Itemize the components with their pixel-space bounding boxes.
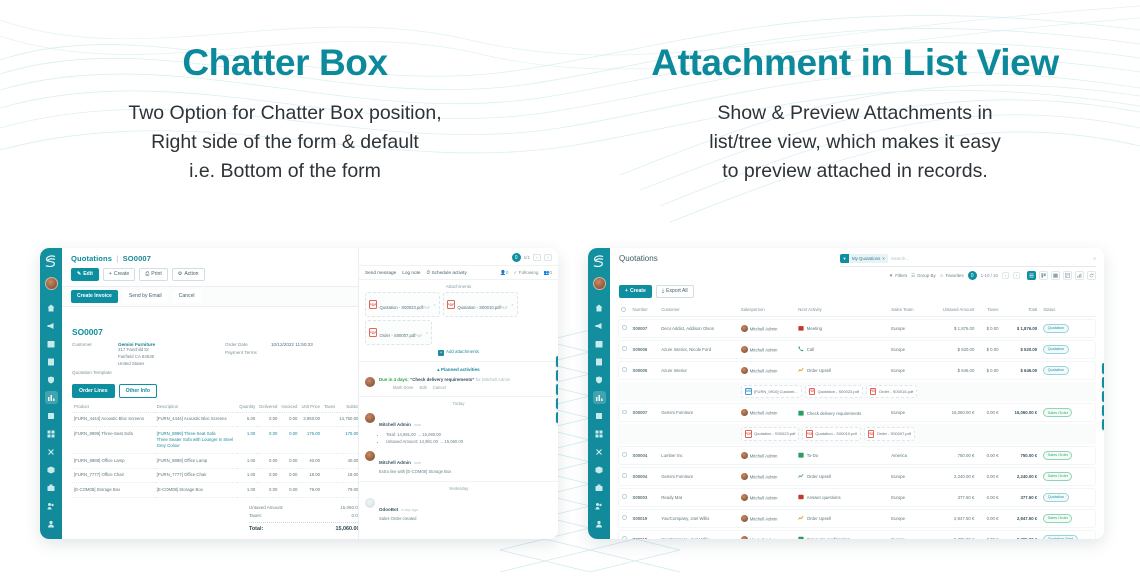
edit-activity-button[interactable]: Edit	[419, 385, 426, 390]
edit-button[interactable]: ✎Edit	[71, 268, 99, 281]
search-input[interactable]: Search...	[891, 256, 1090, 261]
list-view-mockup: Quotations ▼ My Quotations× Search... ⌕ …	[588, 248, 1104, 539]
list-header: Quotations ▼ My Quotations× Search... ⌕ …	[610, 248, 1104, 280]
message-body: Sales Order created	[379, 516, 418, 523]
total-untaxed-label: Untaxed Amount:	[249, 505, 284, 510]
attachment-name: Quotation - S00023.pdf	[380, 305, 423, 310]
attachment-chip[interactable]: PDFOrder - S00015.pdf	[866, 385, 917, 399]
address-line: 317 Fairchild Dr	[118, 347, 155, 354]
cell-description: [FURN_8999] Three-Seat Sofa Three Seater…	[155, 427, 238, 454]
floating-toolbar-right	[1102, 363, 1104, 430]
cell-total: 2,240.00 €	[1002, 467, 1041, 486]
pdf-icon: PDF	[870, 388, 877, 396]
form-fields-right: Order Date 10/12/2022 11:50:23 Payment T…	[225, 342, 364, 377]
attachment-row: PDFQuotation - S00023.pdf PDFQuotation -…	[618, 424, 1096, 444]
cell-taxes: 0.00 €	[977, 530, 1001, 539]
settings-icon[interactable]	[1102, 405, 1104, 416]
avatar	[365, 377, 375, 387]
table-row[interactable]: S00007 Gemini Furniture Mitchell Admin C…	[618, 403, 1096, 422]
pdf-icon: PDF	[369, 300, 377, 309]
status-badge: Quotation	[1043, 493, 1068, 502]
select-all-checkbox[interactable]	[621, 307, 626, 312]
col-sales-team[interactable]: Sales Team	[888, 304, 926, 317]
list-view-icon[interactable]	[1027, 271, 1036, 280]
pdf-icon: PDF	[806, 430, 813, 438]
create-button-label: Create	[114, 272, 129, 277]
search-icon[interactable]	[1102, 377, 1104, 388]
status-badge: Quotation	[1043, 366, 1068, 375]
followers-count[interactable]: 👤0	[500, 270, 508, 276]
cell-number[interactable]: S00007	[630, 319, 659, 338]
row-checkbox[interactable]	[622, 367, 627, 372]
row-checkbox[interactable]	[622, 494, 627, 499]
cell-number[interactable]: S00004	[630, 446, 659, 465]
table-row[interactable]: S00019 YourCompany, Joel Willis Mitchell…	[618, 509, 1096, 528]
status-badge: Sales Order	[1043, 472, 1072, 481]
cell-product: [FURN_7777] Office Chair	[72, 468, 155, 482]
people-icon[interactable]	[593, 499, 606, 512]
col-status[interactable]: Status	[1040, 304, 1096, 317]
mark-done-button[interactable]: Mark Done	[393, 385, 413, 390]
close-icon[interactable]: ×	[434, 302, 436, 307]
create-button-label: Create	[630, 289, 646, 294]
cell-quantity: 5.00	[237, 412, 257, 426]
briefcase-icon[interactable]	[593, 481, 606, 494]
col-salesperson[interactable]: Salesperson	[738, 304, 796, 317]
col-product[interactable]: Product	[72, 401, 155, 413]
schedule-activity-button[interactable]: ⏱ Schedule activity	[427, 270, 467, 275]
cell-number[interactable]: S00005	[630, 361, 659, 380]
address-line: United States	[118, 361, 155, 368]
chip-icon[interactable]	[45, 535, 58, 539]
cell-status: Quotation Sent	[1040, 530, 1096, 539]
cell-salesperson: Mitchell Admin	[738, 530, 796, 539]
table-row[interactable]: [FURN_7777] Office Chair[FURN_7777] Offi…	[72, 468, 364, 482]
search-icon[interactable]: ⌕	[1093, 256, 1096, 262]
table-row[interactable]: S00018 YourCompany, Joel Willis Mitchell…	[618, 530, 1096, 539]
cancel-button[interactable]: Cancel	[173, 290, 201, 303]
cell-quantity: 1.00	[237, 427, 257, 454]
row-checkbox[interactable]	[622, 346, 627, 351]
cell-total: 2,947.50 €	[1002, 509, 1041, 528]
table-row[interactable]: [FURN_4444] Acoustic Bloc Screens[FURN_4…	[72, 412, 364, 426]
table-row[interactable]: [FURN_8999] Three-Seat Sofa[FURN_8999] T…	[72, 427, 364, 454]
export-all-button[interactable]: ⤓Export All	[656, 285, 694, 298]
avatar[interactable]	[593, 277, 606, 290]
subtitle-line: list/tree view, which makes it easy	[709, 128, 1001, 157]
cell-status: Quotation	[1040, 361, 1096, 380]
status-badge: Quotation	[1043, 324, 1068, 333]
col-invoiced[interactable]: Invoiced	[279, 401, 299, 413]
breadcrumb-root[interactable]: Quotations	[71, 254, 112, 263]
avatar	[741, 325, 748, 332]
close-icon[interactable]: ×	[882, 256, 885, 261]
list-toolbar: ▼ Filters ☰ Group By ☆ Favorites 0 1-10 …	[840, 267, 1096, 280]
tab-other-info[interactable]: Other Info	[119, 384, 157, 398]
calendar-icon[interactable]	[593, 337, 606, 350]
avatar	[741, 367, 748, 374]
message-item: OdooBota day ago Sales Order created	[359, 495, 558, 526]
avatar	[741, 409, 748, 416]
person-icon[interactable]	[593, 517, 606, 530]
invoice-icon[interactable]	[45, 409, 58, 422]
cell-product: [FURN_8999] Three-Seat Sofa	[72, 427, 155, 454]
todo-icon	[798, 410, 804, 416]
cell-sales-team: Europe	[888, 340, 926, 359]
box-icon[interactable]	[593, 463, 606, 476]
avatar	[741, 494, 748, 501]
col-description[interactable]: Description	[155, 401, 238, 413]
activity-due: Due in 4 days:	[379, 377, 409, 382]
row-checkbox[interactable]	[622, 473, 627, 478]
cell-salesperson: Mitchell Admin	[738, 509, 796, 528]
chatter-panel: 0 1/1 ‹ › Send message Log note ⏱ Schedu…	[358, 248, 558, 539]
col-delivered[interactable]: Delivered	[257, 401, 279, 413]
cell-customer: Ready Mat	[658, 488, 738, 507]
attachment-type: PDF	[415, 334, 422, 338]
activity-headline: Due in 4 days: “Check delivery requireme…	[379, 377, 510, 384]
star-icon[interactable]	[556, 356, 558, 367]
close-icon[interactable]	[593, 445, 606, 458]
filters-button[interactable]: ▼ Filters	[889, 273, 907, 278]
favorites-button[interactable]: ☆ Favorites	[940, 273, 964, 279]
upsell-icon	[798, 473, 804, 479]
list-control-panel: ▼ My Quotations× Search... ⌕ ▼ Filters ☰…	[840, 254, 1096, 280]
col-taxes[interactable]: Taxes	[977, 304, 1001, 317]
floating-toolbar-left	[556, 356, 558, 423]
person-icon[interactable]	[45, 517, 58, 530]
cell-customer: YourCompany, Joel Willis	[658, 509, 738, 528]
page-subtitle-right: Show & Preview Attachments in list/tree …	[709, 99, 1001, 186]
cell-salesperson: Mitchell Admin	[738, 446, 796, 465]
attachment-chip[interactable]: PDF Quotation - S00010.pdfPDF ×	[443, 292, 518, 317]
cell-invoiced: 0.00	[279, 483, 299, 497]
group-by-button[interactable]: ☰ Group By	[911, 273, 935, 279]
create-invoice-button[interactable]: Create Invoice	[71, 290, 118, 303]
yesterday-divider: Yesterday	[359, 481, 558, 495]
pager-prev-button[interactable]: ‹	[1002, 272, 1009, 279]
avatar	[741, 536, 748, 539]
megaphone-icon[interactable]	[593, 319, 606, 332]
avatar	[365, 451, 375, 461]
cell-total: $ 1,876.00	[1002, 319, 1041, 338]
image-icon: IMG	[745, 388, 752, 396]
field-quotation-template-label: Quotation Template	[72, 370, 112, 375]
cell-description: [FURN_4444] Acoustic Bloc Screens	[155, 412, 238, 426]
calendar-view-icon[interactable]	[1051, 271, 1060, 280]
table-row[interactable]: [E-COM08] Storage Box[E-COM08] Storage B…	[72, 483, 364, 497]
cell-untaxed: 750.00 €	[926, 446, 977, 465]
attachment-name: Quotation - S00010.pdf	[815, 431, 856, 436]
hero-section: Chatter Box Two Option for Chatter Box p…	[0, 0, 1140, 215]
plus-icon: +	[438, 350, 444, 356]
graph-view-icon[interactable]	[1075, 271, 1084, 280]
cell-customer: Azure Interior, Nicole Ford	[658, 340, 738, 359]
cell-sales-team: Europe	[888, 467, 926, 486]
settings-icon[interactable]	[556, 398, 558, 409]
col-taxes[interactable]: Taxes	[322, 401, 337, 413]
cell-product: [FURN_8888] Office Lamp	[72, 454, 155, 468]
grid-icon[interactable]	[45, 427, 58, 440]
attachment-cell: PDFQuotation - S00023.pdf PDFQuotation -…	[618, 424, 1096, 444]
col-number[interactable]: Number	[630, 304, 659, 317]
app-sidebar[interactable]	[40, 248, 62, 539]
group-by-label: Group By	[917, 273, 936, 278]
chatter-count-badge[interactable]: 0	[512, 253, 521, 262]
col-unit-price[interactable]: Unit Price	[299, 401, 322, 413]
attachment-chip[interactable]: IMG[FURN_0910] Customi...	[741, 385, 802, 399]
chip-icon[interactable]	[593, 535, 606, 539]
create-button[interactable]: +Create	[619, 285, 652, 298]
page-subtitle-left: Two Option for Chatter Box position, Rig…	[128, 99, 441, 186]
upsell-icon	[798, 515, 804, 521]
home-icon[interactable]	[593, 301, 606, 314]
people-icon[interactable]	[45, 499, 58, 512]
cell-number[interactable]: S00018	[630, 530, 659, 539]
cell-delivered: 0.00	[257, 427, 279, 454]
question-icon	[798, 494, 804, 500]
action-button[interactable]: ⚙Action	[172, 268, 205, 281]
table-row[interactable]: S00003 Ready Mat Mitchell Admin Answer q…	[618, 488, 1096, 507]
cell-invoiced: 0.00	[279, 454, 299, 468]
attachment-chip[interactable]: PDFOrder - S00007.pdf	[864, 427, 915, 441]
cell-unit-price: 79.00	[299, 483, 322, 497]
cell-number[interactable]: S00007	[630, 403, 659, 422]
attachments-section-label: Attachments	[359, 280, 558, 292]
subtitle-line: Right side of the form & default	[128, 128, 441, 157]
home-icon[interactable]	[45, 301, 58, 314]
avatar	[741, 346, 748, 353]
avatar	[741, 452, 748, 459]
sales-icon[interactable]	[593, 391, 606, 404]
search-icon[interactable]	[556, 370, 558, 381]
cell-untaxed: 15,060.00 €	[926, 403, 977, 422]
pager-range: 1-10 / 10	[981, 273, 998, 278]
field-order-date-value[interactable]: 10/12/2022 11:50:23	[271, 342, 313, 347]
attachment-row: IMG[FURN_0910] Customi... PDFQuotation -…	[618, 382, 1096, 402]
attachment-chip[interactable]: PDF Quotation - S00023.pdfPDF ×	[365, 292, 440, 317]
log-note-button[interactable]: Log note	[402, 270, 420, 275]
col-customer[interactable]: Customer	[658, 304, 738, 317]
filters-label: Filters	[895, 273, 907, 278]
field-customer-label: Customer	[72, 342, 112, 367]
cell-sales-team: Europe	[888, 509, 926, 528]
close-icon[interactable]	[45, 445, 58, 458]
field-payment-terms: Payment Terms	[225, 350, 364, 355]
cell-taxes	[322, 454, 337, 468]
cell-invoiced: 0.00	[279, 412, 299, 426]
pager-badge[interactable]: 0	[968, 271, 977, 280]
table-row[interactable]: S00005 Azure Interior Mitchell Admin Ord…	[618, 361, 1096, 380]
avatar	[741, 515, 748, 522]
cell-customer: Gemini Furniture	[658, 467, 738, 486]
follower-badge[interactable]: 👥0	[544, 270, 552, 276]
form-fields-left: Customer Gemini Furniture 317 Fairchild …	[72, 342, 211, 377]
print-icon: ⎙	[145, 272, 149, 277]
cell-number[interactable]: S00004	[630, 467, 659, 486]
attachment-chip[interactable]: PDFQuotation - S00023.pdf	[741, 427, 799, 441]
expand-icon[interactable]	[1102, 391, 1104, 402]
cell-taxes: $ 0.00	[977, 340, 1001, 359]
invoice-icon[interactable]	[593, 409, 606, 422]
page-title-right: Attachment in List View	[651, 42, 1058, 83]
kanban-view-icon[interactable]	[1039, 271, 1048, 280]
cell-status: Sales Order	[1040, 467, 1096, 486]
send-by-email-button[interactable]: Send by Email	[123, 290, 168, 303]
send-message-button[interactable]: Send message	[365, 270, 396, 275]
download-icon: ⤓	[662, 289, 664, 294]
cell-untaxed: 2,947.50 €	[926, 509, 977, 528]
cell-number[interactable]: S00006	[630, 340, 659, 359]
message-time: a day ago	[401, 508, 418, 512]
cell-sales-team: Europe	[888, 403, 926, 422]
col-quantity[interactable]: Quantity	[237, 401, 257, 413]
add-attachments-button[interactable]: +Add attachments	[359, 345, 558, 358]
cell-invoiced: 0.00	[279, 468, 299, 482]
col-untaxed-amount[interactable]: Untaxed Amount	[926, 304, 977, 317]
box-icon[interactable]	[45, 463, 58, 476]
tab-order-lines[interactable]: Order Lines	[72, 384, 115, 398]
pivot-view-icon[interactable]	[1063, 271, 1072, 280]
status-badge: Sales Order	[1043, 408, 1072, 417]
attachment-chip[interactable]: PDFQuotation - S00010.pdf	[802, 427, 860, 441]
table-row[interactable]: S00006 Azure Interior, Nicole Ford Mitch…	[618, 340, 1096, 359]
cell-delivered: 0.00	[257, 483, 279, 497]
close-icon[interactable]: ×	[511, 302, 513, 307]
cell-total: 377.60 €	[1002, 488, 1041, 507]
view-switcher	[1027, 271, 1096, 280]
row-checkbox[interactable]	[622, 515, 627, 520]
message-author: OdooBot	[379, 507, 398, 512]
cell-next-activity: Answer questions	[795, 488, 888, 507]
create-invoice-label: Create Invoice	[77, 294, 112, 299]
cell-salesperson: Mitchell Admin	[738, 467, 796, 486]
cell-salesperson: Mitchell Admin	[738, 319, 796, 338]
cancel-activity-button[interactable]: Cancel	[433, 385, 446, 390]
filter-icon: ▼	[840, 254, 849, 263]
book-icon[interactable]	[45, 355, 58, 368]
col-total[interactable]: Total	[1002, 304, 1041, 317]
app-sidebar[interactable]	[588, 248, 610, 539]
field-quotation-template: Quotation Template	[72, 370, 211, 375]
subtitle-line: Show & Preview Attachments in	[709, 99, 1001, 128]
cell-total: 9,705.00 €	[1002, 530, 1041, 539]
row-checkbox[interactable]	[622, 325, 627, 330]
search-bar[interactable]: ▼ My Quotations× Search... ⌕	[840, 254, 1096, 267]
table-row[interactable]: S00007 Deco Addict, Addison Olson Mitche…	[618, 319, 1096, 338]
cell-taxes: $ 0.00	[977, 361, 1001, 380]
form-fields: Customer Gemini Furniture 317 Fairchild …	[72, 342, 364, 377]
close-icon[interactable]: ×	[426, 330, 428, 335]
create-button[interactable]: +Create	[103, 268, 135, 281]
cell-unit-price: 40.00	[299, 454, 322, 468]
chatter-prev-button[interactable]: ‹	[533, 254, 541, 261]
pager-next-button[interactable]: ›	[1013, 272, 1020, 279]
cell-number[interactable]: S00003	[630, 488, 659, 507]
cell-delivered: 0.00	[257, 468, 279, 482]
expand-icon[interactable]	[556, 384, 558, 395]
breadcrumb-separator: |	[116, 254, 118, 263]
pdf-icon: PDF	[447, 300, 455, 309]
book-icon[interactable]	[593, 355, 606, 368]
cell-quantity: 1.00	[237, 483, 257, 497]
cell-product: [FURN_4444] Acoustic Bloc Screens	[72, 412, 155, 426]
table-row[interactable]: S00004 Gemini Furniture Mitchell Admin O…	[618, 467, 1096, 486]
cell-delivered: 0.00	[257, 412, 279, 426]
sales-icon[interactable]	[45, 391, 58, 404]
cell-taxes: $ 0.00	[977, 319, 1001, 338]
grid-icon[interactable]	[593, 427, 606, 440]
cell-status: Sales Order	[1040, 446, 1096, 465]
activity-view-icon[interactable]	[1087, 271, 1096, 280]
shield-icon[interactable]	[593, 373, 606, 386]
shield-icon[interactable]	[45, 373, 58, 386]
cell-untaxed: 377.60 €	[926, 488, 977, 507]
total-untaxed: Untaxed Amount: 15,060.00 €	[249, 504, 364, 512]
search-facet[interactable]: ▼ My Quotations×	[840, 254, 888, 263]
total-label: Total:	[249, 526, 263, 532]
export-all-label: Export All	[666, 289, 688, 294]
cell-number[interactable]: S00019	[630, 509, 659, 528]
attachment-chip[interactable]: PDF Order - S00007.pdfPDF ×	[365, 320, 432, 345]
col-next-activity[interactable]: Next Activity	[795, 304, 888, 317]
total-taxes-label: Taxes:	[249, 513, 262, 518]
status-badge: Sales Order	[1043, 514, 1072, 523]
briefcase-icon[interactable]	[45, 481, 58, 494]
cell-total: $ 520.00	[1002, 340, 1041, 359]
cell-customer: Lumber Inc	[658, 446, 738, 465]
quotations-list-table: Number Customer Salesperson Next Activit…	[618, 302, 1096, 539]
send-by-email-label: Send by Email	[129, 294, 162, 299]
cell-next-activity: Check delivery requirements	[795, 403, 888, 422]
table-row[interactable]: S00004 Lumber Inc Mitchell Admin To-Do A…	[618, 446, 1096, 465]
call-icon	[798, 346, 804, 352]
attachment-chip[interactable]: PDFQuotation - S00023.pdf	[805, 385, 863, 399]
print-button[interactable]: ⎙Print	[139, 268, 168, 281]
cell-customer: Gemini Furniture	[658, 403, 738, 422]
avatar	[741, 473, 748, 480]
message-item: Mitchell Adminnow Extra line with [E-COM…	[359, 448, 558, 479]
total-taxes: Taxes: 0.00 €	[249, 512, 364, 520]
cell-sales-team: Europe	[888, 361, 926, 380]
megaphone-icon[interactable]	[45, 319, 58, 332]
customer-address: 317 Fairchild Dr Fairfield CA 94535 Unit…	[118, 347, 155, 367]
grid-icon[interactable]	[1102, 419, 1104, 430]
cell-salesperson: Mitchell Admin	[738, 340, 796, 359]
row-checkbox[interactable]	[622, 452, 627, 457]
plus-icon: +	[109, 272, 112, 277]
attachment-chip-list: PDF Quotation - S00023.pdfPDF × PDF Quot…	[359, 292, 558, 345]
attachment-name: [FURN_0910] Customi...	[754, 389, 798, 394]
attachment-type: PDF	[423, 306, 430, 310]
cell-total: $ 646.00	[1002, 361, 1041, 380]
cell-untaxed: $ 646.00	[926, 361, 977, 380]
row-checkbox[interactable]	[622, 410, 627, 415]
cell-next-activity: Get quote confirmation	[795, 530, 888, 539]
chatter-next-button[interactable]: ›	[544, 254, 552, 261]
cell-sales-team: America	[888, 446, 926, 465]
following-button[interactable]: ✓ Following	[514, 270, 539, 276]
star-icon[interactable]	[1102, 363, 1104, 374]
address-line: Fairfield CA 94535	[118, 354, 155, 361]
table-row[interactable]: [FURN_8888] Office Lamp[FURN_8888] Offic…	[72, 454, 364, 468]
grid-icon[interactable]	[556, 412, 558, 423]
avatar[interactable]	[45, 277, 58, 290]
calendar-icon[interactable]	[45, 337, 58, 350]
status-badge: Quotation Sent	[1043, 535, 1077, 539]
cell-unit-price: 2,950.00	[299, 412, 322, 426]
row-checkbox[interactable]	[622, 536, 627, 539]
